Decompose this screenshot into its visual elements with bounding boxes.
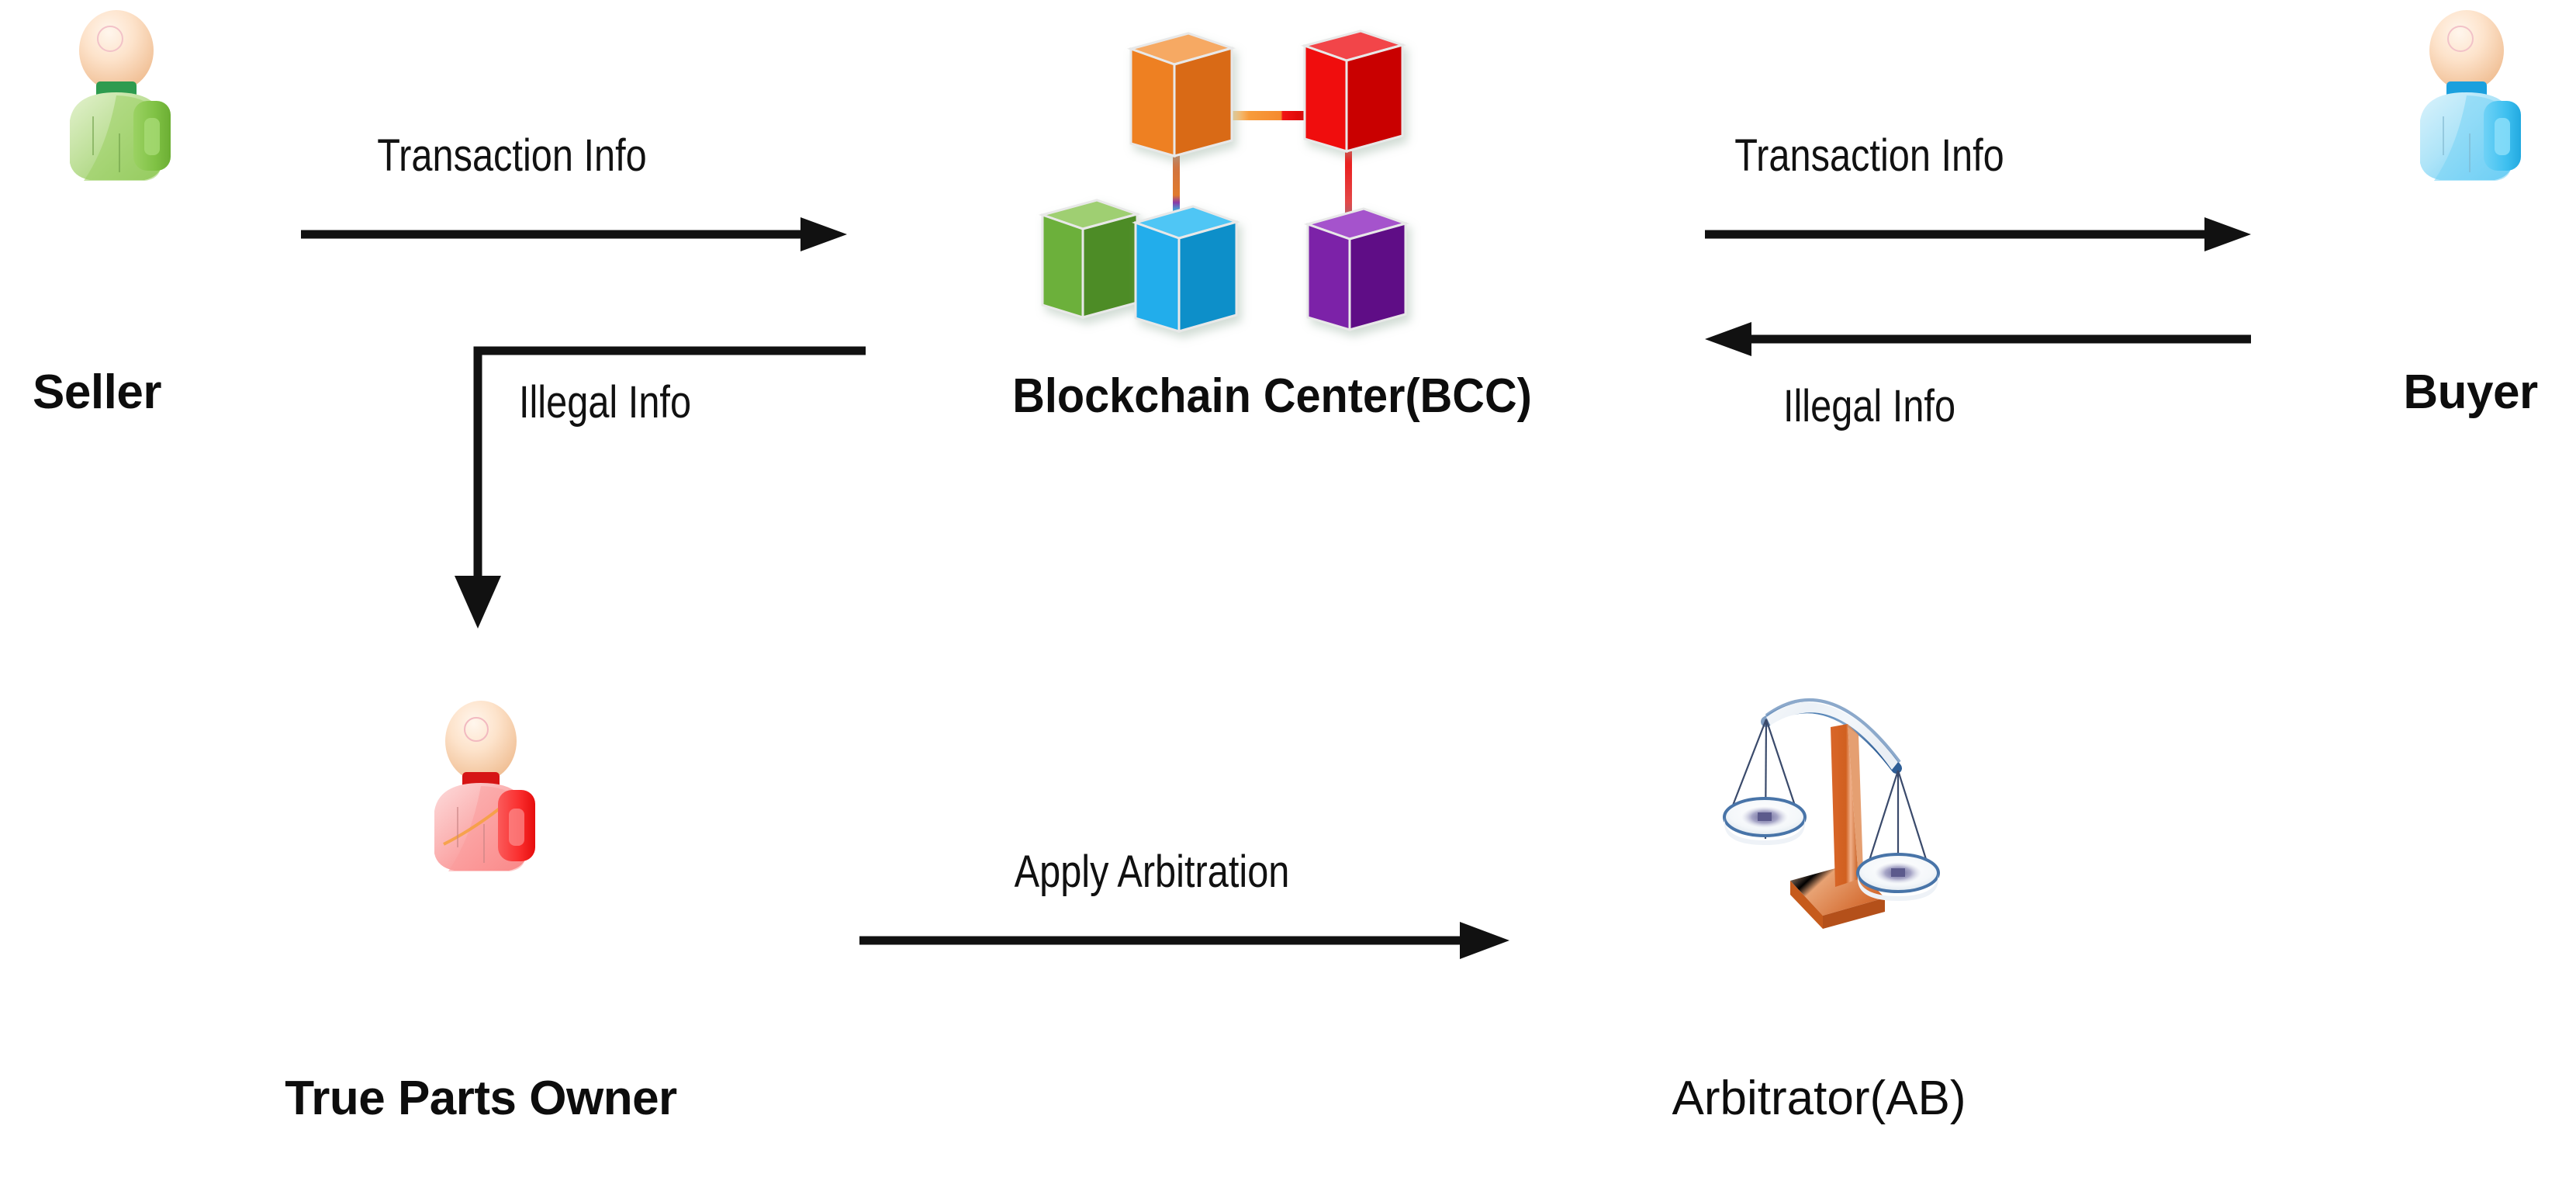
cube-purple (1308, 209, 1406, 330)
node-label-arbitrator: Arbitrator(AB) (1610, 1075, 2028, 1123)
person-green-icon (16, 8, 217, 186)
connector-orange-red (1224, 111, 1308, 120)
edge-label-owner-to-arbitrator: Apply Arbitration (894, 850, 1409, 895)
node-seller (16, 8, 217, 186)
arrow-buyer-to-bcc (1699, 314, 2257, 369)
scale-pan-right (1858, 854, 1938, 901)
node-label-true-parts-owner: True Parts Owner (233, 1075, 729, 1123)
cube-green (1043, 200, 1137, 317)
arrow-owner-to-arbitrator (853, 916, 1513, 970)
edge-label-bcc-to-buyer: Transaction Info (1687, 133, 2052, 178)
person-blue-icon (2366, 8, 2567, 186)
arrow-bcc-to-owner (434, 326, 869, 636)
edge-label-seller-to-bcc: Transaction Info (330, 133, 694, 178)
cube-blue (1136, 206, 1236, 331)
node-arbitrator (1644, 679, 1993, 982)
node-label-blockchain-center: Blockchain Center(BCC) (929, 372, 1615, 421)
blockchain-cubes-icon (1032, 12, 1513, 353)
node-true-parts-owner (380, 698, 582, 877)
node-label-seller: Seller (0, 369, 194, 417)
edge-label-buyer-to-bcc: Illegal Info (1687, 384, 2052, 429)
node-label-buyer: Buyer (2374, 369, 2567, 417)
node-blockchain-center (1032, 12, 1513, 353)
diagram-canvas: Seller (0, 0, 2576, 1181)
cube-red (1305, 31, 1402, 151)
arrow-seller-to-bcc (295, 210, 853, 264)
node-buyer (2366, 8, 2567, 186)
cube-orange (1131, 33, 1232, 156)
arrow-bcc-to-buyer (1699, 210, 2257, 264)
scales-of-justice-icon (1644, 679, 1993, 982)
person-red-icon (380, 698, 582, 877)
